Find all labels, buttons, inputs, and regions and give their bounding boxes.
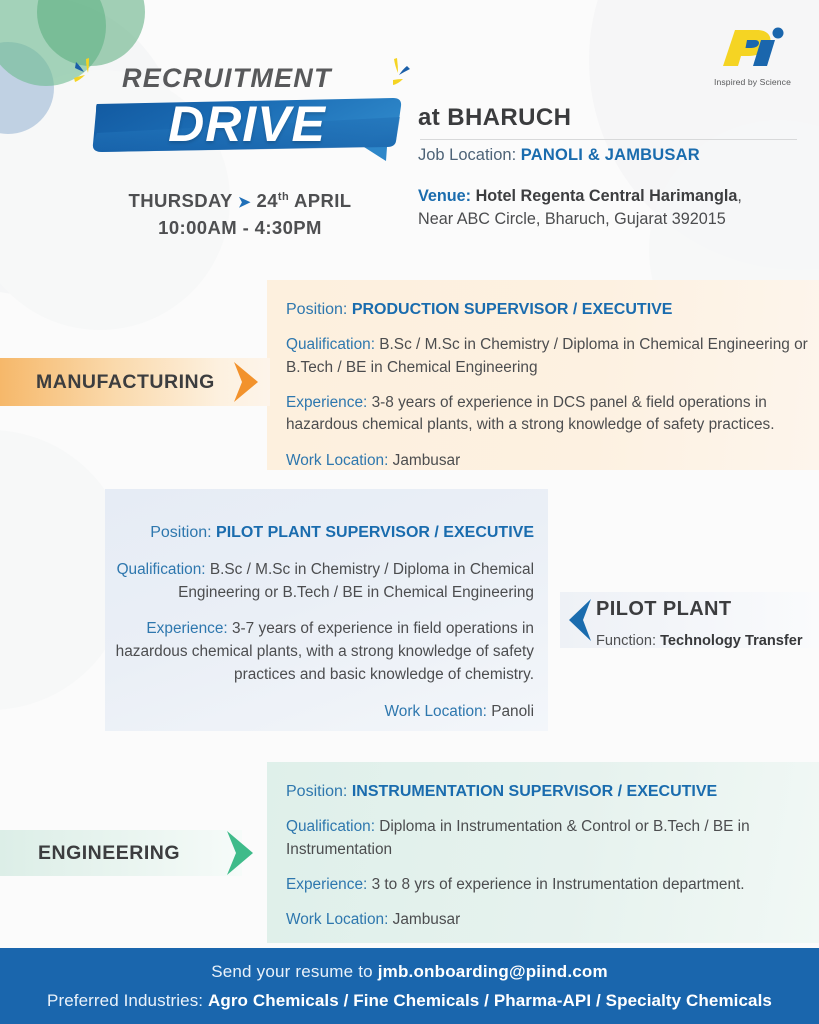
- pilot-plant-function-line: Function: Technology Transfer: [596, 633, 803, 649]
- experience-label: Experience:: [286, 394, 367, 411]
- work-location-label: Work Location:: [385, 703, 487, 720]
- sparkle-burst-left-icon: [70, 56, 104, 90]
- manufacturing-worklocation-line: Work Location: Jambusar: [286, 450, 808, 472]
- company-logo: Inspired by Science: [705, 26, 800, 87]
- venue-name: Hotel Regenta Central Harimangla: [476, 187, 738, 205]
- poster-footer: Send your resume to jmb.onboarding@piind…: [0, 948, 819, 1024]
- manufacturing-qualification-line: Qualification: B.Sc / M.Sc in Chemistry …: [286, 334, 808, 379]
- venue-label: Venue:: [418, 187, 471, 205]
- engineering-details: Position: INSTRUMENTATION SUPERVISOR / E…: [286, 780, 808, 945]
- footer-industries-label: Preferred Industries:: [47, 991, 208, 1010]
- department-label-engineering: ENGINEERING: [38, 842, 180, 865]
- pi-logo-icon: [717, 26, 789, 70]
- qualification-label: Qualification:: [286, 336, 375, 353]
- engineering-experience-value: 3 to 8 yrs of experience in Instrumentat…: [372, 876, 745, 893]
- city-heading: at BHARUCH: [418, 104, 813, 132]
- manufacturing-experience-line: Experience: 3-8 years of experience in D…: [286, 392, 808, 437]
- event-month: APRIL: [294, 190, 352, 211]
- experience-label: Experience:: [286, 876, 367, 893]
- department-label-pilot-plant: PILOT PLANT: [596, 598, 732, 621]
- pilot-plant-qualification-value: B.Sc / M.Sc in Chemistry / Diploma in Ch…: [178, 561, 534, 601]
- footer-industries-line: Preferred Industries: Agro Chemicals / F…: [47, 991, 772, 1011]
- qualification-label: Qualification:: [117, 561, 206, 578]
- event-date-number: 24: [257, 190, 278, 211]
- department-tag-engineering: ENGINEERING: [0, 830, 242, 876]
- work-location-label: Work Location:: [286, 911, 388, 928]
- position-label: Position:: [286, 783, 347, 800]
- venue-address: Near ABC Circle, Bharuch, Gujarat 392015: [418, 210, 726, 228]
- position-label: Position:: [150, 524, 211, 541]
- function-label: Function:: [596, 633, 656, 649]
- chevron-right-orange-icon: [228, 359, 268, 405]
- event-datetime: THURSDAY ➤ 24th APRIL 10:00AM - 4:30PM: [104, 188, 376, 242]
- engineering-experience-line: Experience: 3 to 8 yrs of experience in …: [286, 874, 808, 896]
- job-location-label: Job Location:: [418, 146, 516, 164]
- event-date-suffix: th: [278, 191, 289, 203]
- engineering-worklocation-line: Work Location: Jambusar: [286, 909, 808, 931]
- position-label: Position:: [286, 301, 347, 318]
- venue-block: Venue: Hotel Regenta Central Harimangla,…: [418, 185, 813, 231]
- manufacturing-position-line: Position: PRODUCTION SUPERVISOR / EXECUT…: [286, 298, 808, 321]
- pilot-plant-experience-line: Experience: 3-7 years of experience in f…: [100, 617, 534, 686]
- department-label-manufacturing: MANUFACTURING: [36, 371, 215, 394]
- engineering-position-line: Position: INSTRUMENTATION SUPERVISOR / E…: [286, 780, 808, 803]
- job-location-row: Job Location: PANOLI & JAMBUSAR: [418, 146, 813, 165]
- pilot-plant-function-value: Technology Transfer: [660, 633, 802, 649]
- pilot-plant-worklocation-line: Work Location: Panoli: [100, 700, 534, 723]
- experience-label: Experience:: [146, 620, 227, 637]
- footer-email[interactable]: jmb.onboarding@piind.com: [378, 962, 608, 981]
- manufacturing-details: Position: PRODUCTION SUPERVISOR / EXECUT…: [286, 298, 808, 485]
- pilot-plant-worklocation-value: Panoli: [491, 703, 534, 720]
- chevron-left-blue-icon: [563, 595, 597, 645]
- pilot-plant-position-value: PILOT PLANT SUPERVISOR / EXECUTIVE: [216, 524, 534, 541]
- poster-header: RECRUITMENT DRIVE THURSDAY ➤ 24th APRIL: [0, 0, 819, 262]
- logo-tagline: Inspired by Science: [705, 77, 800, 87]
- drive-banner: DRIVE: [88, 95, 406, 163]
- pilot-plant-position-line: Position: PILOT PLANT SUPERVISOR / EXECU…: [100, 521, 534, 545]
- chevron-right-icon: ➤: [238, 194, 251, 211]
- chevron-right-green-icon: [222, 827, 262, 879]
- pilot-plant-qualification-line: Qualification: B.Sc / M.Sc in Chemistry …: [100, 558, 534, 604]
- header-divider: [420, 139, 797, 140]
- footer-industries-value: Agro Chemicals / Fine Chemicals / Pharma…: [208, 991, 772, 1010]
- qualification-label: Qualification:: [286, 818, 375, 835]
- event-day: THURSDAY: [129, 190, 233, 211]
- engineering-position-value: INSTRUMENTATION SUPERVISOR / EXECUTIVE: [352, 783, 717, 800]
- manufacturing-position-value: PRODUCTION SUPERVISOR / EXECUTIVE: [352, 301, 673, 318]
- job-location-value: PANOLI & JAMBUSAR: [521, 146, 700, 164]
- engineering-worklocation-value: Jambusar: [393, 911, 461, 928]
- footer-resume-prefix: Send your resume to: [211, 962, 378, 981]
- work-location-label: Work Location:: [286, 452, 388, 469]
- footer-resume-line: Send your resume to jmb.onboarding@piind…: [211, 962, 608, 982]
- sparkle-burst-right-icon: [384, 56, 418, 90]
- engineering-qualification-line: Qualification: Diploma in Instrumentatio…: [286, 816, 808, 861]
- event-time: 10:00AM - 4:30PM: [158, 217, 322, 238]
- drive-banner-text: DRIVE: [88, 95, 406, 153]
- manufacturing-worklocation-value: Jambusar: [393, 452, 461, 469]
- kicker-recruitment: RECRUITMENT: [122, 63, 332, 94]
- header-location-block: at BHARUCH Job Location: PANOLI & JAMBUS…: [418, 104, 813, 231]
- pilot-plant-details: Position: PILOT PLANT SUPERVISOR / EXECU…: [100, 521, 534, 736]
